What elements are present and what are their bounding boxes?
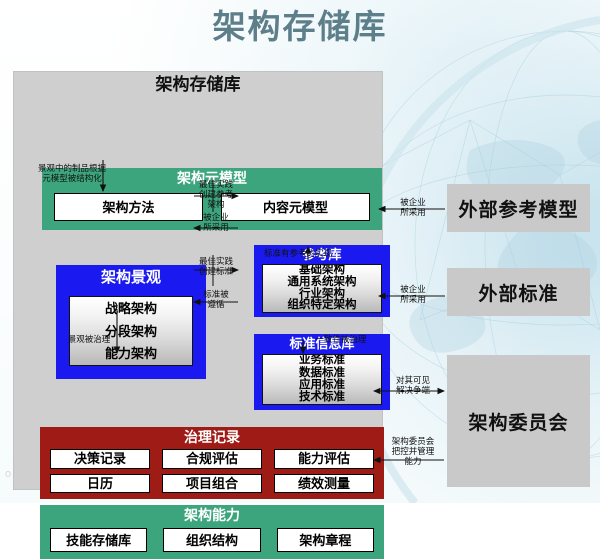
metamodel-item-content-metamodel[interactable]: 内容元模型 <box>221 193 370 221</box>
architecture-board-box[interactable]: 架构委员会 <box>447 355 590 487</box>
reference-item-organization-specific[interactable]: 组织特定架构 <box>263 300 381 312</box>
wire-label-bestpractice-create-reference: 最佳实践 创建参考 架构 <box>196 179 236 209</box>
capability-item-skills-repository[interactable]: 技能存储库 <box>50 528 147 552</box>
page-title: 架构存储库 <box>0 6 600 48</box>
wire-label-visible-resolve-dispute: 对其可见 解决争端 <box>385 375 441 395</box>
reference-library-items: 基础架构 通用系统架构 行业架构 组织特定架构 <box>262 264 382 313</box>
section-heading: 治理记录 <box>40 427 384 446</box>
capability-item-org-structure[interactable]: 组织结构 <box>163 528 260 552</box>
wire-label-consistency-governed: 一致性被治理 <box>306 334 376 344</box>
wire-label-board-controls-capability: 架构委员会 把控并管理 能力 <box>383 436 443 466</box>
standard-item-data[interactable]: 数据标准 <box>263 367 381 379</box>
standards-items: 业务标准 数据标准 应用标准 技术标准 <box>262 354 382 405</box>
standard-item-business[interactable]: 业务标准 <box>263 355 381 367</box>
external-reference-model-box[interactable]: 外部参考模型 <box>447 184 590 232</box>
wire-label-standards-reference-impl: 标准有参考的实现 <box>243 248 353 258</box>
governance-item-capability-assessment[interactable]: 能力评估 <box>274 449 374 469</box>
capability-items: 技能存储库 组织结构 架构章程 <box>50 528 374 552</box>
wire-label-metamodel-to-landscape: 景观中的制品根据 元模型被结构化 <box>26 163 118 183</box>
section-architecture-landscape[interactable]: 架构景观 战略架构 分段架构 能力架构 <box>56 265 206 379</box>
standard-item-technology[interactable]: 技术标准 <box>263 392 381 404</box>
corner-watermark: o <box>5 468 11 480</box>
external-standard-box[interactable]: 外部标准 <box>447 268 590 316</box>
governance-item-decision-log[interactable]: 决策记录 <box>50 449 150 469</box>
architecture-repository-panel: 架构存储库 架构元模型 架构方法 内容元模型 架构景观 战略架构 分段架构 能力… <box>14 72 382 489</box>
governance-items: 决策记录 合规评估 能力评估 日历 项目组合 绩效测量 <box>50 449 374 493</box>
section-heading: 架构能力 <box>40 505 384 524</box>
governance-item-performance-measurement[interactable]: 绩效测量 <box>274 474 374 494</box>
section-governance-log[interactable]: 治理记录 决策记录 合规评估 能力评估 日历 项目组合 绩效测量 <box>40 427 384 499</box>
governance-item-project-portfolio[interactable]: 项目组合 <box>162 474 262 494</box>
wire-label-landscape-governed: 景观被治理 <box>56 334 122 344</box>
capability-item-architecture-charter[interactable]: 架构章程 <box>277 528 374 552</box>
section-heading: 架构景观 <box>56 265 206 286</box>
standard-item-application[interactable]: 应用标准 <box>263 380 381 392</box>
wire-label-standards-followed: 标准被 遵循 <box>196 289 236 309</box>
wire-label-bestpractice-create-standard: 最佳实践 创建标准 <box>196 256 236 276</box>
governance-item-compliance-assessment[interactable]: 合规评估 <box>162 449 262 469</box>
governance-item-calendar[interactable]: 日历 <box>50 474 150 494</box>
wire-label-external-standard-adopted: 被企业 所采用 <box>389 284 437 304</box>
wire-label-external-refmodel-adopted: 被企业 所采用 <box>389 197 437 217</box>
repository-title: 架构存储库 <box>14 74 382 96</box>
section-standards-information-base[interactable]: 标准信息库 业务标准 数据标准 应用标准 技术标准 <box>254 334 390 410</box>
reference-item-foundation[interactable]: 基础架构 <box>263 265 381 277</box>
metamodel-item-architecture-method[interactable]: 架构方法 <box>54 193 203 221</box>
landscape-item-strategic[interactable]: 战略架构 <box>70 297 192 320</box>
landscape-items: 战略架构 分段架构 能力架构 <box>69 296 193 366</box>
reference-item-common-systems[interactable]: 通用系统架构 <box>263 277 381 289</box>
wire-label-adopted-by-enterprise-ref: 被企业 所采用 <box>196 212 236 232</box>
landscape-item-capability[interactable]: 能力架构 <box>70 342 192 365</box>
section-architecture-capability[interactable]: 架构能力 技能存储库 组织结构 架构章程 <box>40 505 384 559</box>
